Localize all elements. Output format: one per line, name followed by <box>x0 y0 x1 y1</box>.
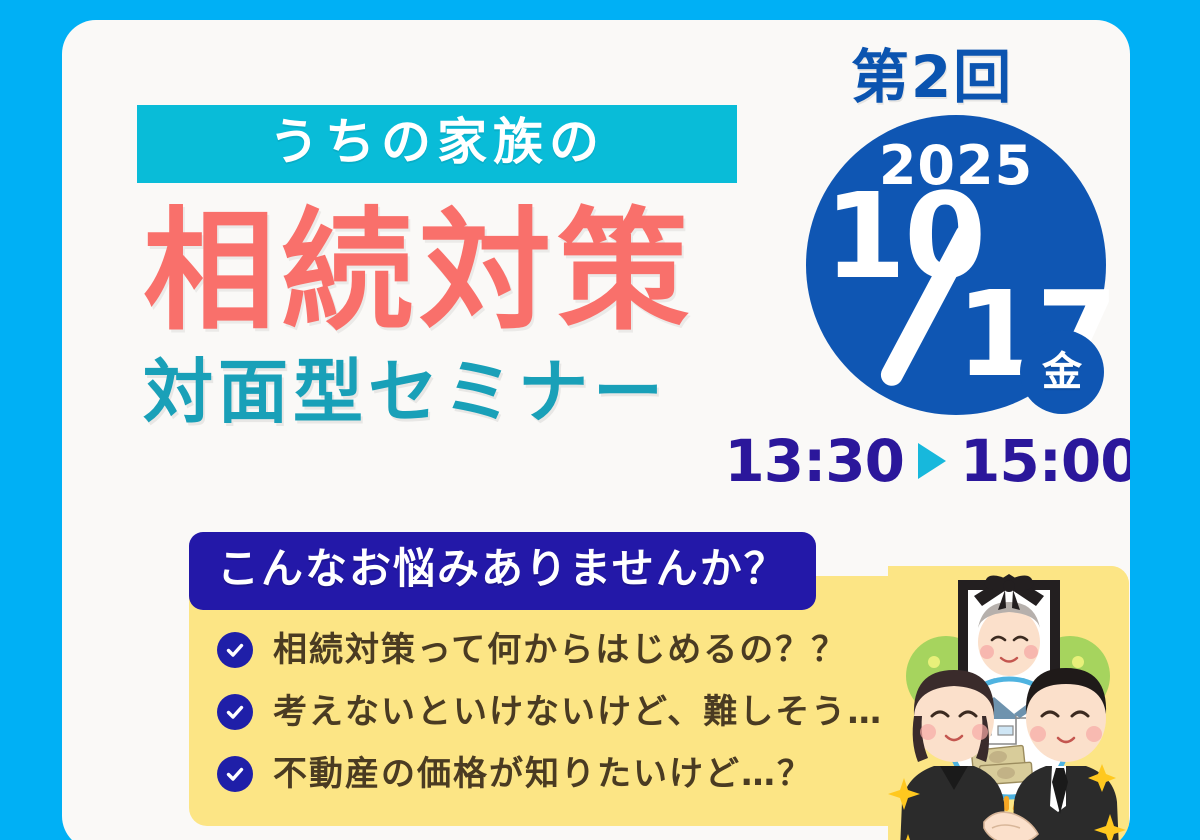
check-circle-icon <box>217 756 253 792</box>
list-item-label: 不動産の価格が知りたいけど…？ <box>273 757 813 791</box>
inheritance-handshake-illustration <box>888 566 1129 840</box>
edition-label: 第2回 <box>752 48 1112 106</box>
check-circle-icon <box>217 694 253 730</box>
start-time: 13:30 <box>724 432 904 490</box>
check-circle-icon <box>217 632 253 668</box>
end-time: 15:00 <box>960 432 1130 490</box>
weekday-badge: 金 <box>1020 330 1104 414</box>
kicker-band: うちの家族の <box>137 105 737 183</box>
problems-list: 相続対策って何からはじめるの？？ 考えないといけないけど、難しそう… 不動産の価… <box>217 620 883 806</box>
list-item-label: 相続対策って何からはじめるの？？ <box>273 633 847 667</box>
page-subtitle: 対面型セミナー <box>143 357 757 427</box>
problems-heading: こんなお悩みありませんか？ <box>189 532 816 610</box>
list-item: 相続対策って何からはじめるの？？ <box>217 620 883 680</box>
time-row: 13:30 15:00 <box>752 432 1112 490</box>
list-item: 不動産の価格が知りたいけど…？ <box>217 744 883 804</box>
title-block: うちの家族の 相続対策 対面型セミナー <box>137 105 757 427</box>
date-block: 第2回 2025 10 17 金 13:30 15:00 <box>752 30 1112 500</box>
list-item-label: 考えないといけないけど、難しそう… <box>273 695 883 729</box>
page-title: 相続対策 <box>143 199 757 347</box>
flyer-card: うちの家族の 相続対策 対面型セミナー 第2回 2025 10 17 金 13:… <box>62 20 1130 840</box>
play-triangle-icon <box>918 443 946 479</box>
list-item: 考えないといけないけど、難しそう… <box>217 682 883 742</box>
